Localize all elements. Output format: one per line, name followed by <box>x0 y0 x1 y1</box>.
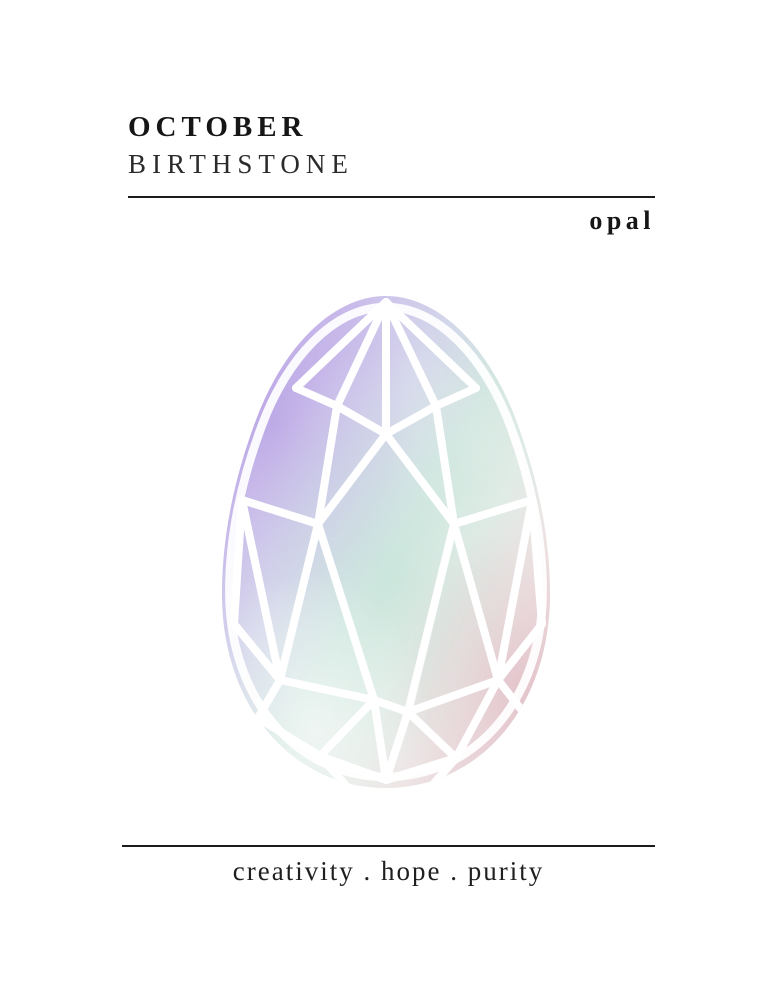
page-title-month: OCTOBER <box>128 112 655 143</box>
header-block: OCTOBER BIRTHSTONE <box>128 112 655 181</box>
header-divider <box>128 196 655 198</box>
footer-divider <box>122 845 655 847</box>
opal-gemstone-illustration <box>198 288 582 812</box>
page-subtitle-birthstone: BIRTHSTONE <box>128 149 655 181</box>
keywords-line: creativity . hope . purity <box>122 856 655 887</box>
poster-page: OCTOBER BIRTHSTONE opal <box>0 0 773 1000</box>
gem-name-label: opal <box>128 206 655 236</box>
